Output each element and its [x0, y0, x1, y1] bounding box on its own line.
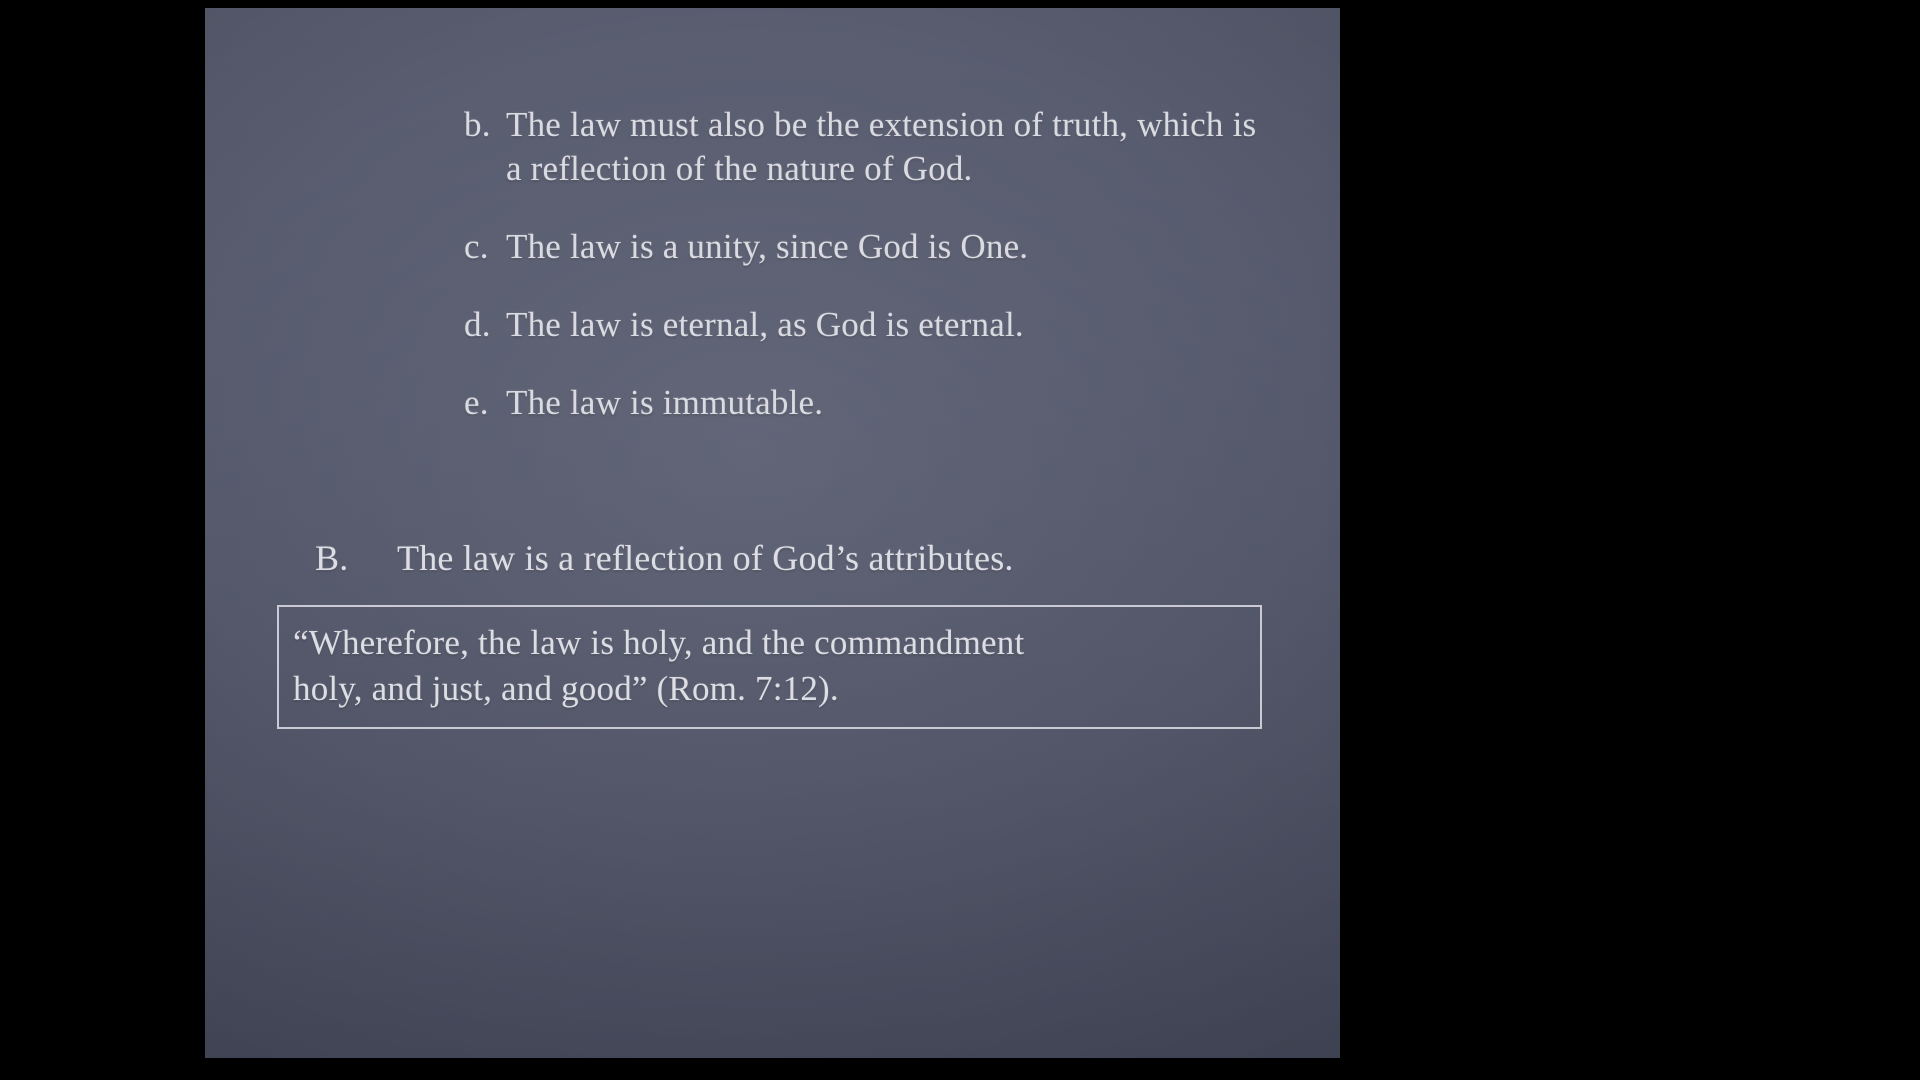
- screen-root: b. The law must also be the extension of…: [0, 0, 1920, 1080]
- sub-list: b. The law must also be the extension of…: [450, 103, 1280, 459]
- quote-line-2: holy, and just, and good” (Rom. 7:12).: [293, 666, 1246, 712]
- list-item-marker: c.: [450, 225, 506, 269]
- quote-line-1: “Wherefore, the law is holy, and the com…: [293, 620, 1246, 666]
- list-item-text: The law is immutable.: [506, 381, 1280, 425]
- video-frame: b. The law must also be the extension of…: [205, 0, 1340, 1080]
- list-item-text: The law is eternal, as God is eternal.: [506, 303, 1280, 347]
- letterbox-bar-top: [205, 0, 1340, 8]
- list-item: c. The law is a unity, since God is One.: [450, 225, 1280, 269]
- outline-item-marker: B.: [305, 536, 397, 581]
- outline-item-b: B. The law is a reflection of God’s attr…: [305, 536, 1285, 581]
- list-item: d. The law is eternal, as God is eternal…: [450, 303, 1280, 347]
- list-item-marker: e.: [450, 381, 506, 425]
- outline-item-text: The law is a reflection of God’s attribu…: [397, 536, 1285, 581]
- scripture-quote-box: “Wherefore, the law is holy, and the com…: [277, 605, 1262, 729]
- slide-content: b. The law must also be the extension of…: [205, 8, 1340, 1058]
- list-item-text: The law is a unity, since God is One.: [506, 225, 1280, 269]
- list-item-marker: d.: [450, 303, 506, 347]
- list-item: b. The law must also be the extension of…: [450, 103, 1280, 191]
- list-item-marker: b.: [450, 103, 506, 147]
- list-item-text: The law must also be the extension of tr…: [506, 103, 1280, 191]
- letterbox-bar-bottom: [205, 1058, 1340, 1080]
- slide-surface: b. The law must also be the extension of…: [205, 8, 1340, 1058]
- list-item: e. The law is immutable.: [450, 381, 1280, 425]
